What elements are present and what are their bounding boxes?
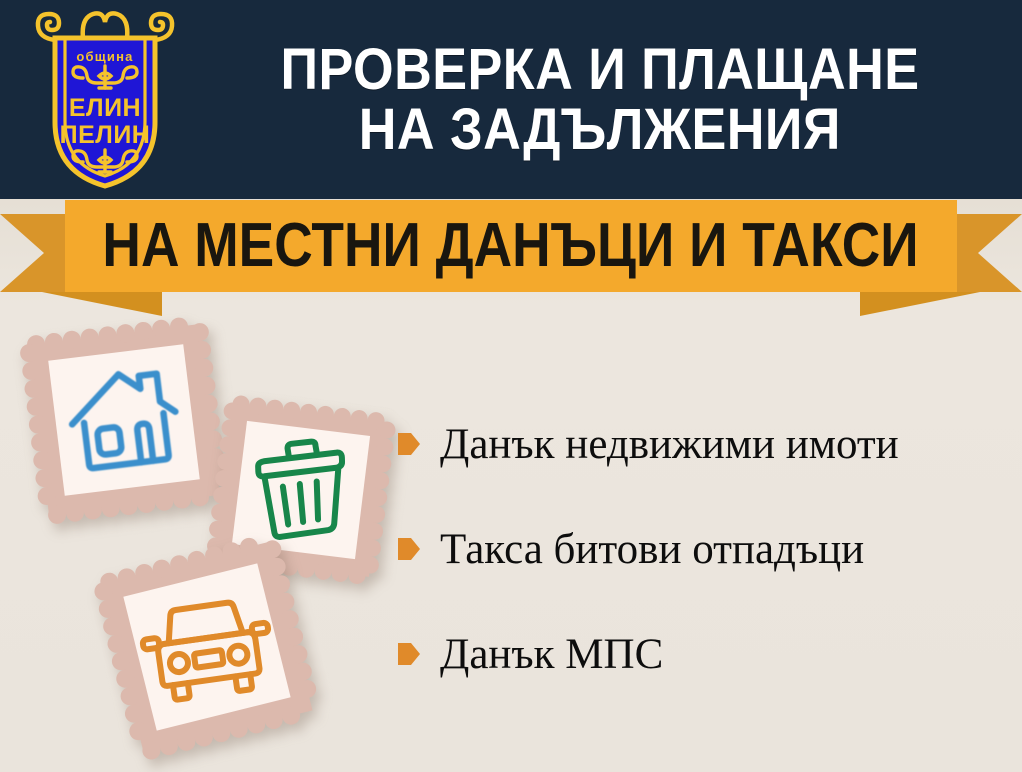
ribbon-subtitle: НА МЕСТНИ ДАНЪЦИ И ТАКСИ <box>103 215 919 277</box>
list-item-label: Данък МПС <box>440 633 663 676</box>
list-item[interactable]: Такса битови отпадъци <box>398 523 1018 575</box>
stamp-card-house <box>16 312 232 528</box>
ribbon-fold-right <box>860 292 980 316</box>
emblem-name-line1: ЕЛИН <box>69 94 141 122</box>
list-item[interactable]: Данък недвижими имоти <box>398 418 1018 470</box>
arrow-bullet-icon <box>398 536 420 562</box>
page-title-line-1: ПРОВЕРКА И ПЛАЩАНЕ <box>280 40 919 100</box>
ribbon-main-panel: НА МЕСТНИ ДАНЪЦИ И ТАКСИ <box>65 200 957 292</box>
car-stamp-svg <box>92 532 322 762</box>
emblem-name-line2: ПЕЛИН <box>60 121 151 149</box>
arrow-bullet-icon <box>398 641 420 667</box>
tax-type-list: Данък недвижими имоти Такса битови отпад… <box>398 418 1018 680</box>
list-item-label: Данък недвижими имоти <box>440 423 899 466</box>
emblem-top-label: община <box>76 49 133 64</box>
ribbon-banner: НА МЕСТНИ ДАНЪЦИ И ТАКСИ <box>0 198 1022 314</box>
house-stamp-svg <box>16 312 232 528</box>
page-title-line-2: НА ЗАДЪЛЖЕНИЯ <box>359 100 841 160</box>
ribbon-fold-left <box>42 292 162 316</box>
emblem-svg: община ЕЛИН ПЕЛИН <box>25 4 185 192</box>
arrow-bullet-icon <box>398 431 420 457</box>
stamp-card-car <box>92 532 322 762</box>
emblem-coat-of-arms: община ЕЛИН ПЕЛИН <box>25 4 185 192</box>
header-title-block: ПРОВЕРКА И ПЛАЩАНЕ НА ЗАДЪЛЖЕНИЯ <box>190 14 1010 186</box>
list-item[interactable]: Данък МПС <box>398 628 1018 680</box>
poster-root: община ЕЛИН ПЕЛИН ПРОВЕРКА И ПЛАЩАНЕ НА … <box>0 0 1022 772</box>
list-item-label: Такса битови отпадъци <box>440 528 864 571</box>
